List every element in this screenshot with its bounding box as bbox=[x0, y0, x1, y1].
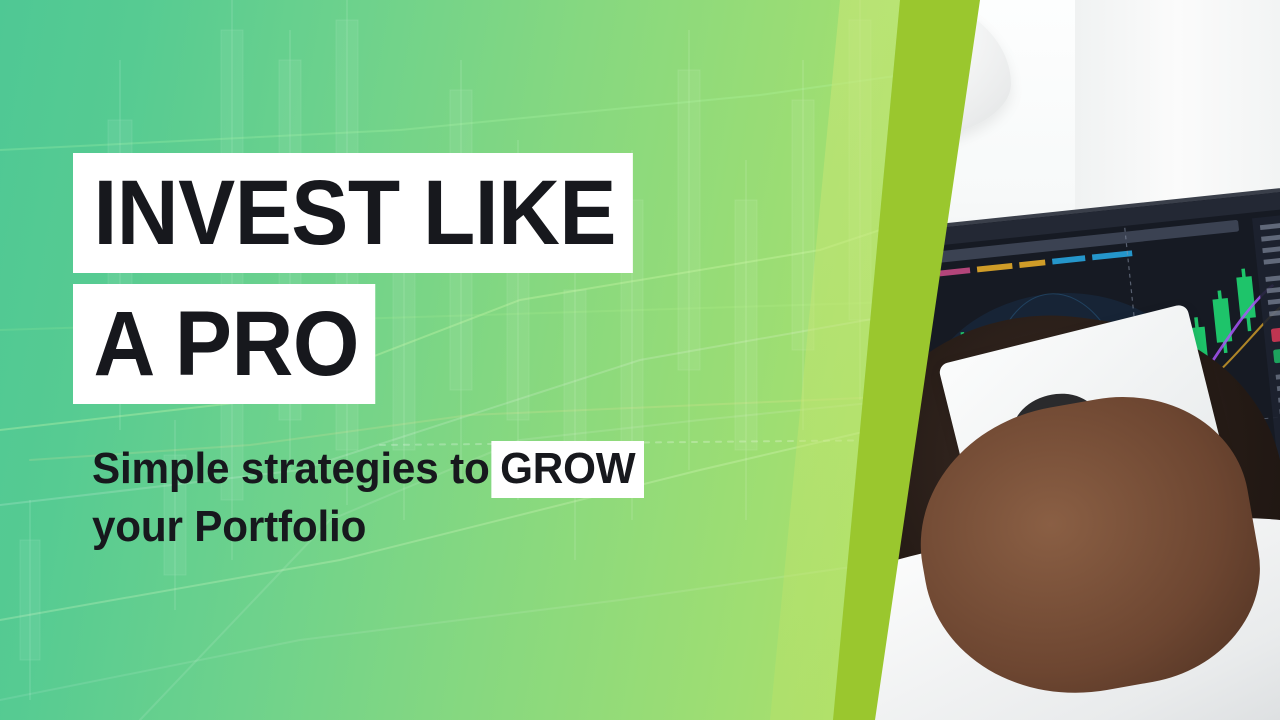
subtitle: Simple strategies toGROW your Portfolio bbox=[92, 440, 644, 556]
headline-line-2: A PRO bbox=[73, 284, 376, 404]
subtitle-highlight-grow: GROW bbox=[491, 441, 644, 498]
headline-line-1: INVEST LIKE bbox=[73, 153, 633, 273]
promo-banner: INVEST LIKE A PRO Simple strategies toGR… bbox=[0, 0, 1280, 720]
subtitle-line-2: your Portfolio bbox=[92, 498, 644, 556]
subtitle-line-1: Simple strategies toGROW bbox=[92, 440, 644, 498]
page-title: INVEST LIKE A PRO bbox=[73, 153, 675, 404]
subtitle-prefix: Simple strategies to bbox=[92, 444, 490, 493]
